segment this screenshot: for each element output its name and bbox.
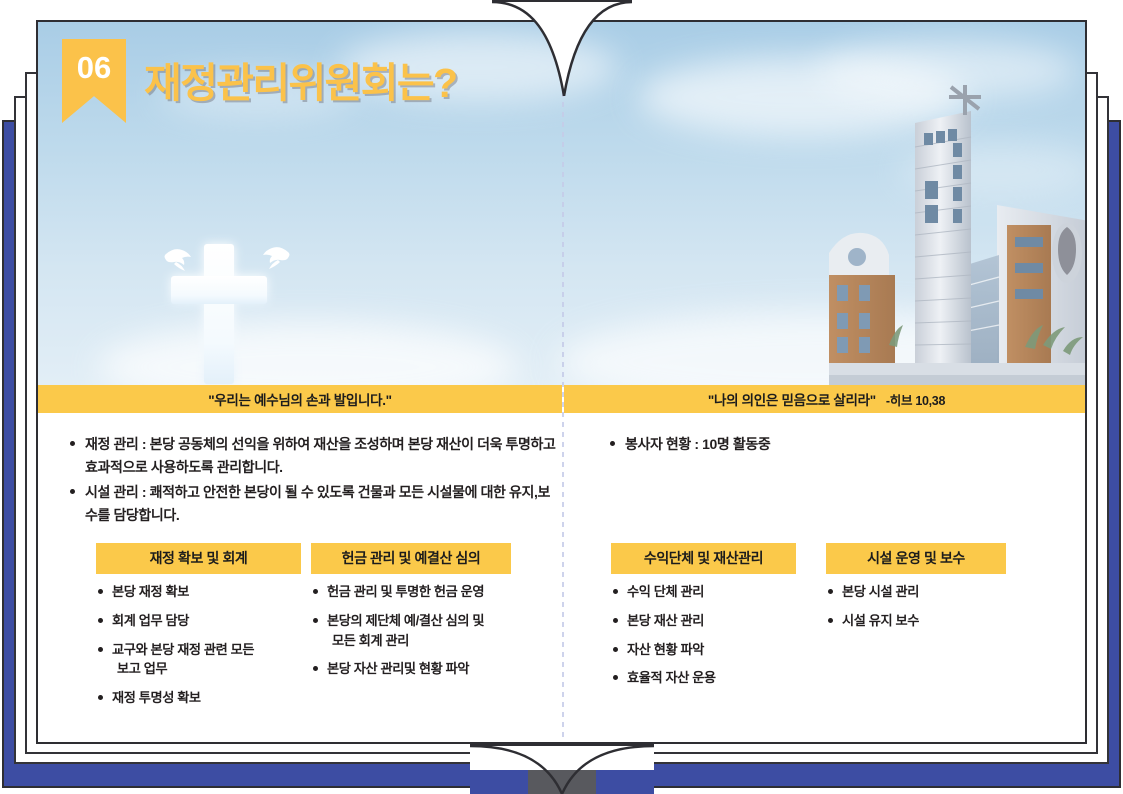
card-title: 시설 운영 및 보수 <box>826 543 1006 574</box>
page-title: 재정관리위원회는? <box>144 49 456 109</box>
book-open-page: "우리는 예수님의 손과 발입니다." "나의 의인은 믿음으로 살리라" -히… <box>36 20 1087 744</box>
list-item-text: 본당의 제단체 예/결산 심의 및 <box>327 613 484 628</box>
card-title: 수익단체 및 재산관리 <box>611 543 796 574</box>
card-list: 수익 단체 관리 본당 재산 관리 자산 현황 파악 효율적 자산 운용 <box>611 582 796 688</box>
duty-card-finance: 재정 확보 및 회계 본당 재정 확보 회계 업무 담당 교구와 본당 재정 관… <box>96 543 301 717</box>
quote-left-text: "우리는 예수님의 손과 발입니다." <box>208 389 392 409</box>
cross-with-doves-graphic <box>142 218 312 385</box>
quote-bar-left: "우리는 예수님의 손과 발입니다." <box>38 385 562 413</box>
list-item: 헌금 관리 및 투명한 헌금 운영 <box>311 582 511 602</box>
list-item: 수익 단체 관리 <box>611 582 796 602</box>
list-item-text: 시설 유지 보수 <box>842 613 919 628</box>
dove-icon <box>263 247 290 269</box>
list-item: 효율적 자산 운용 <box>611 668 796 688</box>
list-item: 재정 관리 : 본당 공동체의 선익을 위하여 재산을 조성하며 본당 재산이 … <box>68 433 558 478</box>
bookmark-badge: 06 <box>62 39 126 123</box>
card-list: 본당 시설 관리 시설 유지 보수 <box>826 582 1006 631</box>
list-item: 재정 투명성 확보 <box>96 688 301 708</box>
list-item-text: 자산 현황 파악 <box>627 642 704 657</box>
list-item: 본당 재산 관리 <box>611 611 796 631</box>
duty-card-facility: 시설 운영 및 보수 본당 시설 관리 시설 유지 보수 <box>826 543 1006 640</box>
book-center-gutter <box>562 22 564 744</box>
duty-card-offering: 헌금 관리 및 예결산 심의 헌금 관리 및 투명한 헌금 운영 본당의 제단체… <box>311 543 511 688</box>
list-item-text: 본당 재정 확보 <box>112 584 189 599</box>
list-item: 본당 시설 관리 <box>826 582 1006 602</box>
card-title: 재정 확보 및 회계 <box>96 543 301 574</box>
intro-list-right: 봉사자 현황 : 10명 활동중 <box>608 433 1048 456</box>
list-item-text-cont: 보고 업무 <box>112 659 301 679</box>
list-item: 시설 유지 보수 <box>826 611 1006 631</box>
slide-title-group: 06 재정관리위원회는? <box>62 39 456 123</box>
dove-icon <box>165 249 192 271</box>
church-illustration <box>829 85 1087 385</box>
list-item: 회계 업무 담당 <box>96 611 301 631</box>
list-item-text: 본당 자산 관리및 현황 파악 <box>327 661 469 676</box>
list-item: 본당 재정 확보 <box>96 582 301 602</box>
cross-icon <box>142 218 312 385</box>
card-list: 헌금 관리 및 투명한 헌금 운영 본당의 제단체 예/결산 심의 및 모든 회… <box>311 582 511 679</box>
tower-cross-icon <box>949 85 981 115</box>
list-item: 시설 관리 : 쾌적하고 안전한 본당이 될 수 있도록 건물과 모든 시설물에… <box>68 481 558 526</box>
list-item-text: 본당 시설 관리 <box>842 584 919 599</box>
quote-right-text: "나의 의인은 믿음으로 살리라" <box>708 389 876 409</box>
slide-number: 06 <box>77 52 111 123</box>
duty-card-assets: 수익단체 및 재산관리 수익 단체 관리 본당 재산 관리 자산 현황 파악 효… <box>611 543 796 697</box>
list-item-text: 본당 재산 관리 <box>627 613 704 628</box>
list-item: 자산 현황 파악 <box>611 640 796 660</box>
list-item-text: 교구와 본당 재정 관련 모든 <box>112 642 254 657</box>
slide-canvas: "우리는 예수님의 손과 발입니다." "나의 의인은 믿음으로 살리라" -히… <box>0 0 1123 794</box>
card-list: 본당 재정 확보 회계 업무 담당 교구와 본당 재정 관련 모든 보고 업무 … <box>96 582 301 708</box>
intro-list-left: 재정 관리 : 본당 공동체의 선익을 위하여 재산을 조성하며 본당 재산이 … <box>68 433 558 530</box>
list-item-text: 효율적 자산 운용 <box>627 670 716 685</box>
list-item: 본당의 제단체 예/결산 심의 및 모든 회계 관리 <box>311 611 511 651</box>
list-item-text: 수익 단체 관리 <box>627 584 704 599</box>
list-item-text-cont: 모든 회계 관리 <box>327 631 511 651</box>
list-item: 본당 자산 관리및 현황 파악 <box>311 659 511 679</box>
church-building-photo <box>829 85 1087 385</box>
list-item: 봉사자 현황 : 10명 활동중 <box>608 433 1048 456</box>
quote-bar-right: "나의 의인은 믿음으로 살리라" -히브 10,38 <box>564 385 1087 413</box>
quote-right-reference: -히브 10,38 <box>886 390 945 409</box>
list-item-text: 헌금 관리 및 투명한 헌금 운영 <box>327 584 484 599</box>
list-item-text: 재정 투명성 확보 <box>112 690 201 705</box>
list-item: 교구와 본당 재정 관련 모든 보고 업무 <box>96 640 301 680</box>
list-item-text: 회계 업무 담당 <box>112 613 189 628</box>
card-title: 헌금 관리 및 예결산 심의 <box>311 543 511 574</box>
